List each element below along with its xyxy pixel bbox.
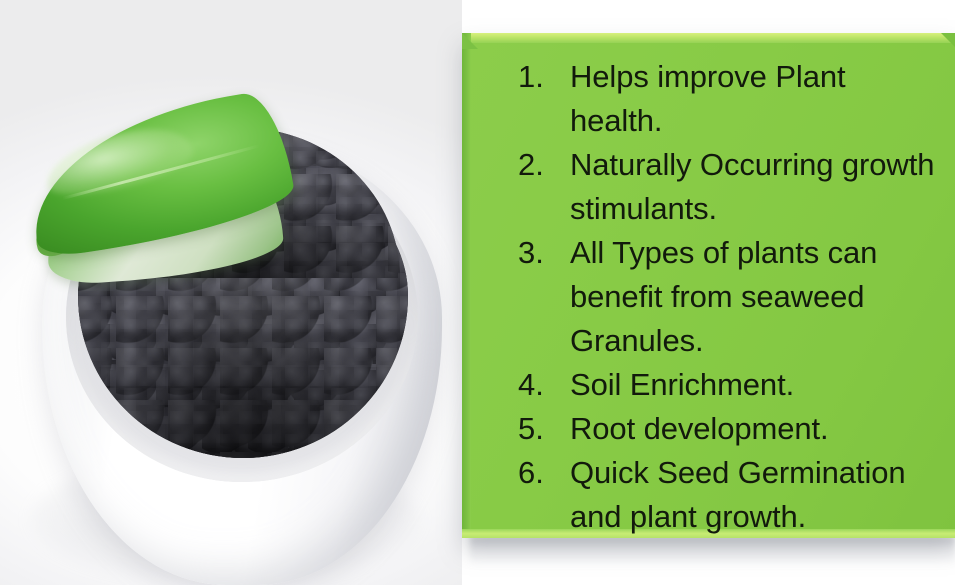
list-item: 6. Quick Seed Germination and plant grow… — [518, 451, 945, 539]
list-item: 3. All Types of plants can benefit from … — [518, 231, 945, 363]
list-item-number: 2. — [518, 143, 570, 187]
list-item: 4. Soil Enrichment. — [518, 363, 945, 407]
panel-drop-shadow — [470, 536, 955, 566]
list-item-number: 3. — [518, 231, 570, 275]
list-item-text: Naturally Occurring growth stimulants. — [570, 143, 945, 231]
benefits-panel: 1. Helps improve Plant health. 2. Natura… — [462, 33, 955, 538]
product-photo — [0, 0, 462, 585]
panel-corner-top-left — [462, 33, 478, 49]
list-item-number: 6. — [518, 451, 570, 495]
list-item: 2. Naturally Occurring growth stimulants… — [518, 143, 945, 231]
list-item-text: Root development. — [570, 407, 945, 451]
list-item-number: 1. — [518, 55, 570, 99]
list-item: 5. Root development. — [518, 407, 945, 451]
list-item-text: All Types of plants can benefit from sea… — [570, 231, 945, 363]
panel-bevel-left — [462, 33, 471, 538]
list-item-text: Soil Enrichment. — [570, 363, 945, 407]
list-item-number: 5. — [518, 407, 570, 451]
benefits-list: 1. Helps improve Plant health. 2. Natura… — [478, 55, 945, 512]
panel-bevel-top — [462, 33, 955, 43]
list-item-text: Helps improve Plant health. — [570, 55, 945, 143]
list-item-text: Quick Seed Germination and plant growth. — [570, 451, 945, 539]
list-item: 1. Helps improve Plant health. — [518, 55, 945, 143]
list-item-number: 4. — [518, 363, 570, 407]
product-benefits-poster: 1. Helps improve Plant health. 2. Natura… — [0, 0, 955, 585]
panel-corner-top-right — [941, 33, 955, 47]
